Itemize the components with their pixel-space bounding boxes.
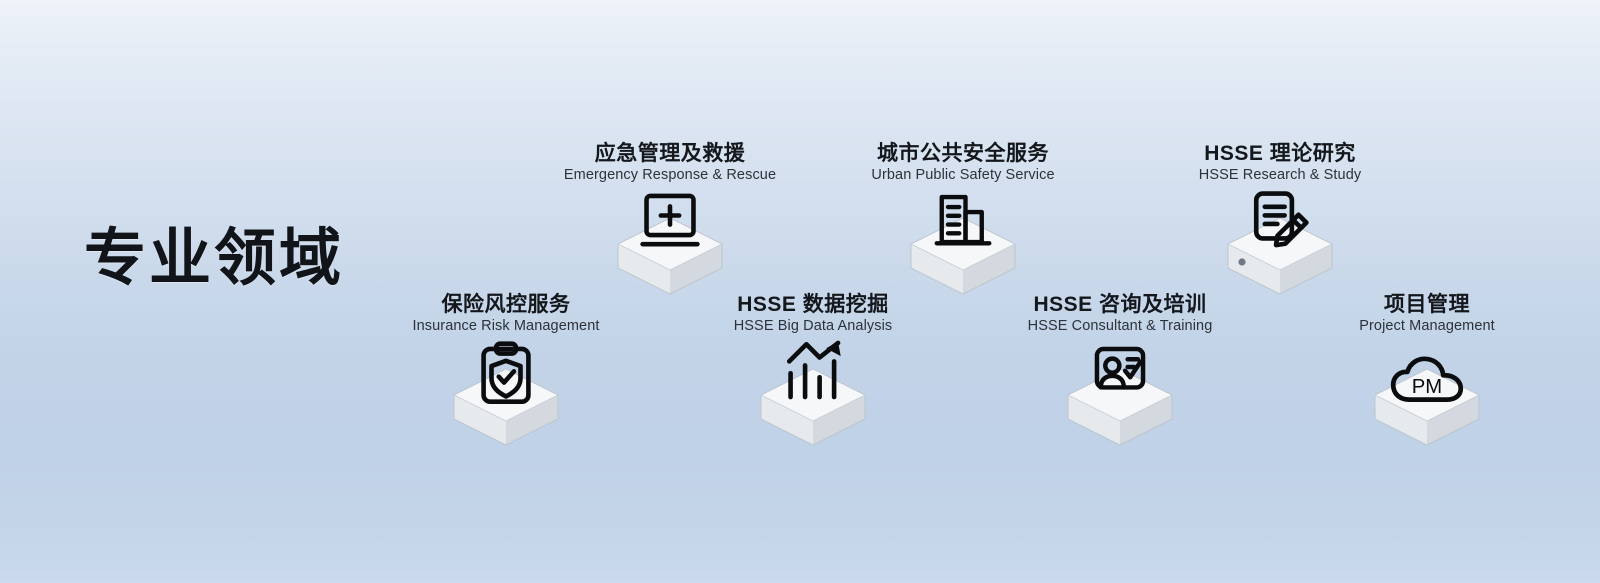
item-label-en: Urban Public Safety Service (798, 168, 1128, 184)
pm-badge-label: PM (1412, 376, 1442, 398)
field-item-hsse-research-study[interactable]: HSSE 理论研究 HSSE Research & Study (1115, 143, 1445, 312)
item-label-cn: 应急管理及救援 (505, 143, 835, 165)
field-item-insurance-risk-management[interactable]: 保险风控服务 Insurance Risk Management (341, 294, 671, 463)
item-label-en: HSSE Big Data Analysis (648, 319, 978, 335)
item-label-en: Emergency Response & Rescue (505, 168, 835, 184)
item-label-en: Insurance Risk Management (341, 319, 671, 335)
item-podium (648, 343, 978, 463)
item-label-cn: HSSE 理论研究 (1115, 143, 1445, 165)
item-label-en: HSSE Consultant & Training (955, 319, 1285, 335)
field-item-urban-public-safety-service[interactable]: 城市公共安全服务 Urban Public Safety Service (798, 143, 1128, 312)
cloud-pm-icon: PM (1389, 355, 1465, 405)
city-buildings-icon (933, 192, 993, 252)
item-podium (341, 343, 671, 463)
professional-fields-banner: 专业领域 应急管理及救援 Emergency Response & Rescue (0, 0, 1600, 583)
item-podium (955, 343, 1285, 463)
item-label-cn: 项目管理 (1262, 294, 1592, 316)
document-pencil-icon (1247, 188, 1313, 252)
clipboard-shield-check-icon (477, 341, 535, 407)
field-item-project-management[interactable]: 项目管理 Project Management PM (1262, 294, 1592, 463)
item-label-cn: 城市公共安全服务 (798, 143, 1128, 165)
item-label-cn: HSSE 数据挖掘 (648, 294, 978, 316)
person-id-card-check-icon (1088, 345, 1152, 403)
field-item-hsse-consultant-training[interactable]: HSSE 咨询及培训 HSSE Consultant & Training (955, 294, 1285, 463)
item-label-en: HSSE Research & Study (1115, 168, 1445, 184)
bar-chart-trend-icon (780, 339, 846, 401)
first-aid-monitor-icon (637, 192, 703, 252)
page-title: 专业领域 (84, 228, 344, 290)
item-label-en: Project Management (1262, 319, 1592, 335)
item-label-cn: 保险风控服务 (341, 294, 671, 316)
field-item-hsse-big-data-analysis[interactable]: HSSE 数据挖掘 HSSE Big Data Analysis (648, 294, 978, 463)
field-item-emergency-response-rescue[interactable]: 应急管理及救援 Emergency Response & Rescue (505, 143, 835, 312)
item-podium: PM (1262, 343, 1592, 463)
item-label-cn: HSSE 咨询及培训 (955, 294, 1285, 316)
